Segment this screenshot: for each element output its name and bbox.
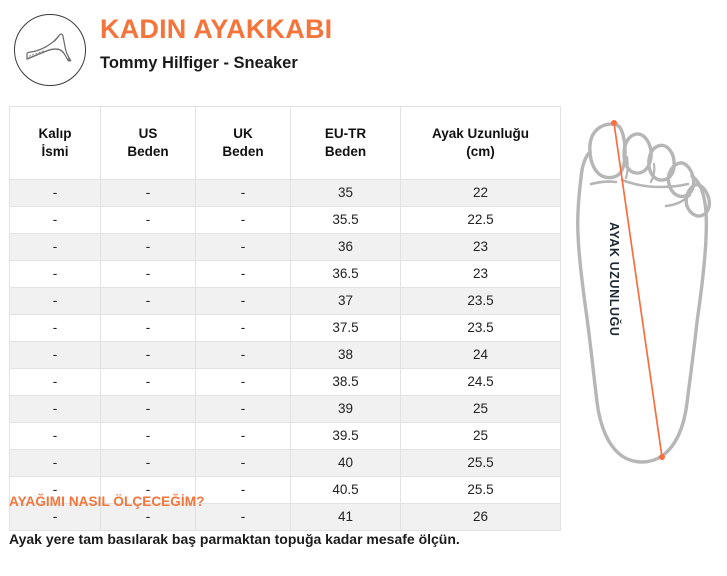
table-cell: - (196, 369, 291, 396)
high-heel-shoe-icon (23, 29, 77, 71)
table-cell: 22 (401, 180, 561, 207)
table-cell: 23 (401, 234, 561, 261)
table-cell: - (196, 396, 291, 423)
table-cell: - (10, 207, 101, 234)
table-row: ---3824 (10, 342, 561, 369)
table-row: ---35.522.5 (10, 207, 561, 234)
table-cell: - (10, 369, 101, 396)
page-header: KADIN AYAKKABI Tommy Hilfiger - Sneaker (0, 0, 727, 96)
table-cell: - (10, 180, 101, 207)
table-cell: - (196, 234, 291, 261)
column-header-line1: Kalıp (11, 125, 99, 143)
column-header-line1: Ayak Uzunluğu (402, 125, 559, 143)
table-cell: 35.5 (291, 207, 401, 234)
table-cell: 36.5 (291, 261, 401, 288)
table-cell: 38.5 (291, 369, 401, 396)
table-cell: - (196, 315, 291, 342)
table-cell: - (10, 396, 101, 423)
table-row: ---3723.5 (10, 288, 561, 315)
table-cell: - (101, 423, 196, 450)
foot-sole-diagram (566, 94, 721, 484)
column-header-line1: EU-TR (292, 125, 399, 143)
table-cell: 36 (291, 234, 401, 261)
page-title: KADIN AYAKKABI (100, 12, 550, 46)
table-cell: - (196, 288, 291, 315)
table-cell: - (101, 369, 196, 396)
table-cell: - (10, 315, 101, 342)
table-row: ---39.525 (10, 423, 561, 450)
column-header-line2: İsmi (11, 143, 99, 161)
table-cell: - (196, 423, 291, 450)
table-cell: - (196, 261, 291, 288)
table-row: ---37.523.5 (10, 315, 561, 342)
table-cell: 23.5 (401, 288, 561, 315)
size-chart-table: Kalıp İsmi US Beden UK Beden EU-TR Beden… (9, 106, 561, 531)
table-cell: 23.5 (401, 315, 561, 342)
table-cell: 37.5 (291, 315, 401, 342)
column-header-line2: Beden (197, 143, 289, 161)
table-cell: - (101, 288, 196, 315)
table-cell: 35 (291, 180, 401, 207)
table-cell: 22.5 (401, 207, 561, 234)
title-block: KADIN AYAKKABI Tommy Hilfiger - Sneaker (100, 12, 550, 74)
table-cell: 40 (291, 450, 401, 477)
table-cell: - (10, 288, 101, 315)
table-cell: 25.5 (401, 450, 561, 477)
table-cell: 24.5 (401, 369, 561, 396)
table-cell: 25 (401, 423, 561, 450)
column-header-uk-beden: UK Beden (196, 107, 291, 180)
instructions-heading: AYAĞIMI NASIL ÖLÇECEĞİM? (9, 494, 609, 509)
column-header-line2: (cm) (402, 143, 559, 161)
column-header-eu-tr-beden: EU-TR Beden (291, 107, 401, 180)
table-cell: - (196, 342, 291, 369)
table-cell: - (196, 207, 291, 234)
size-chart-table-container: Kalıp İsmi US Beden UK Beden EU-TR Beden… (9, 106, 560, 531)
column-header-line1: UK (197, 125, 289, 143)
column-header-line2: Beden (292, 143, 399, 161)
table-cell: - (10, 423, 101, 450)
table-cell: - (10, 234, 101, 261)
table-cell: 25 (401, 396, 561, 423)
column-header-kalip-ismi: Kalıp İsmi (10, 107, 101, 180)
table-row: ---4025.5 (10, 450, 561, 477)
column-header-ayak-uzunlugu: Ayak Uzunluğu (cm) (401, 107, 561, 180)
table-cell: - (101, 261, 196, 288)
brand-logo-circle (14, 14, 86, 86)
table-body: ---3522---35.522.5---3623---36.523---372… (10, 180, 561, 531)
table-row: ---36.523 (10, 261, 561, 288)
table-cell: 39.5 (291, 423, 401, 450)
table-cell: - (10, 342, 101, 369)
table-cell: - (101, 315, 196, 342)
column-header-line2: Beden (102, 143, 194, 161)
table-row: ---3925 (10, 396, 561, 423)
table-row: ---3623 (10, 234, 561, 261)
column-header-line1: US (102, 125, 194, 143)
table-cell: - (101, 207, 196, 234)
page-subtitle: Tommy Hilfiger - Sneaker (100, 52, 550, 74)
measurement-instructions: AYAĞIMI NASIL ÖLÇECEĞİM? Ayak yere tam b… (9, 494, 609, 547)
table-cell: - (101, 180, 196, 207)
table-cell: 39 (291, 396, 401, 423)
table-cell: - (101, 234, 196, 261)
table-cell: - (10, 450, 101, 477)
foot-length-label: AYAK UZUNLUĞU (607, 222, 621, 402)
table-header: Kalıp İsmi US Beden UK Beden EU-TR Beden… (10, 107, 561, 180)
table-cell: - (10, 261, 101, 288)
table-cell: 38 (291, 342, 401, 369)
table-cell: 24 (401, 342, 561, 369)
table-header-row: Kalıp İsmi US Beden UK Beden EU-TR Beden… (10, 107, 561, 180)
table-cell: - (196, 450, 291, 477)
instructions-body: Ayak yere tam basılarak baş parmaktan to… (9, 531, 609, 547)
table-cell: 37 (291, 288, 401, 315)
table-row: ---38.524.5 (10, 369, 561, 396)
table-row: ---3522 (10, 180, 561, 207)
table-cell: - (101, 396, 196, 423)
table-cell: - (101, 450, 196, 477)
table-cell: - (101, 342, 196, 369)
column-header-us-beden: US Beden (101, 107, 196, 180)
table-cell: 23 (401, 261, 561, 288)
table-cell: - (196, 180, 291, 207)
